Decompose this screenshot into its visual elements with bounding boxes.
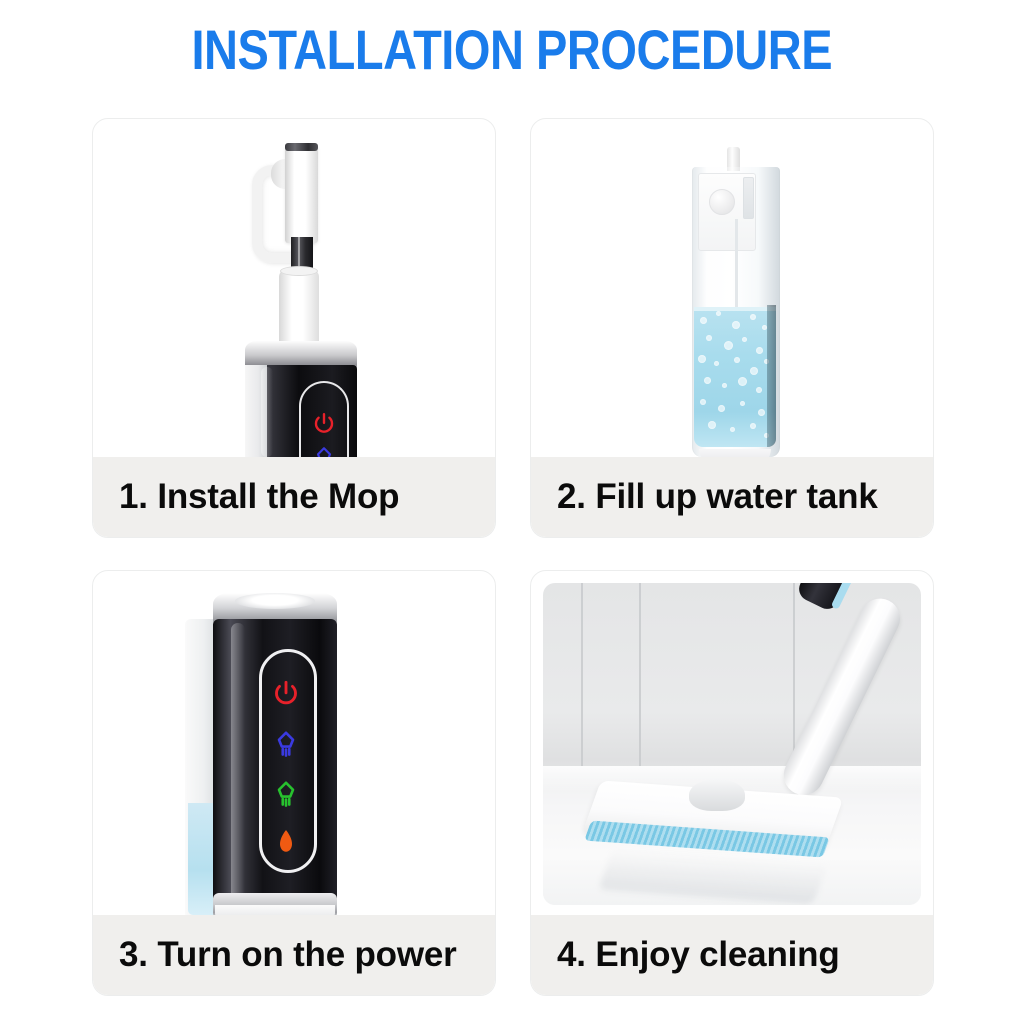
spray-green-icon[interactable]	[271, 779, 301, 814]
wall-seam	[581, 583, 583, 768]
body-top-opening	[235, 593, 315, 609]
tank-water-level	[694, 307, 776, 447]
step-card-1[interactable]: 1. Install the Mop	[92, 118, 496, 538]
mop-handle-black-section	[795, 583, 861, 613]
spray-blue-icon[interactable]	[271, 729, 301, 764]
step-card-2[interactable]: 2. Fill up water tank	[530, 118, 934, 538]
tank-side-water	[188, 803, 214, 915]
attachment-top-cap	[285, 143, 318, 151]
body-gloss-highlight	[231, 623, 245, 903]
step-1-illustration	[93, 119, 495, 457]
step-2-caption-text: 2. Fill up water tank	[557, 477, 878, 517]
tank-right-edge-shadow	[767, 305, 776, 447]
wall-seam	[793, 583, 795, 768]
tank-foot	[699, 449, 771, 457]
step-4-caption-bar: 4. Enjoy cleaning	[531, 915, 933, 995]
step-card-4[interactable]: 4. Enjoy cleaning	[530, 570, 934, 996]
wall-seam	[639, 583, 641, 768]
body-socket-mouth	[280, 266, 318, 276]
step-4-caption-text: 4. Enjoy cleaning	[557, 935, 840, 975]
power-icon	[311, 411, 337, 442]
power-icon[interactable]	[271, 679, 301, 714]
tank-inner-tube	[735, 219, 738, 311]
step-3-illustration	[93, 571, 495, 915]
flame-orange-icon[interactable]	[271, 827, 301, 862]
page-header: INSTALLATION PROCEDURE	[0, 0, 1024, 100]
step-2-illustration	[531, 119, 933, 457]
mop-swivel-joint	[689, 779, 745, 811]
step-3-caption-text: 3. Turn on the power	[119, 935, 457, 975]
body-white-base	[215, 905, 335, 915]
attachment-body	[285, 145, 318, 243]
tank-knob-icon	[709, 189, 735, 215]
cleaning-photo	[543, 583, 921, 905]
step-1-caption-bar: 1. Install the Mop	[93, 457, 495, 537]
step-3-caption-bar: 3. Turn on the power	[93, 915, 495, 995]
step-2-caption-bar: 2. Fill up water tank	[531, 457, 933, 537]
step-4-illustration	[531, 571, 933, 915]
step-card-3[interactable]: 3. Turn on the power	[92, 570, 496, 996]
body-gloss-highlight	[261, 367, 273, 457]
tank-valve	[743, 177, 754, 219]
step-1-caption-text: 1. Install the Mop	[119, 477, 399, 517]
page-title: INSTALLATION PROCEDURE	[192, 18, 833, 83]
spray-blue-icon	[311, 445, 337, 457]
steps-grid: 1. Install the Mop	[0, 100, 1024, 1024]
